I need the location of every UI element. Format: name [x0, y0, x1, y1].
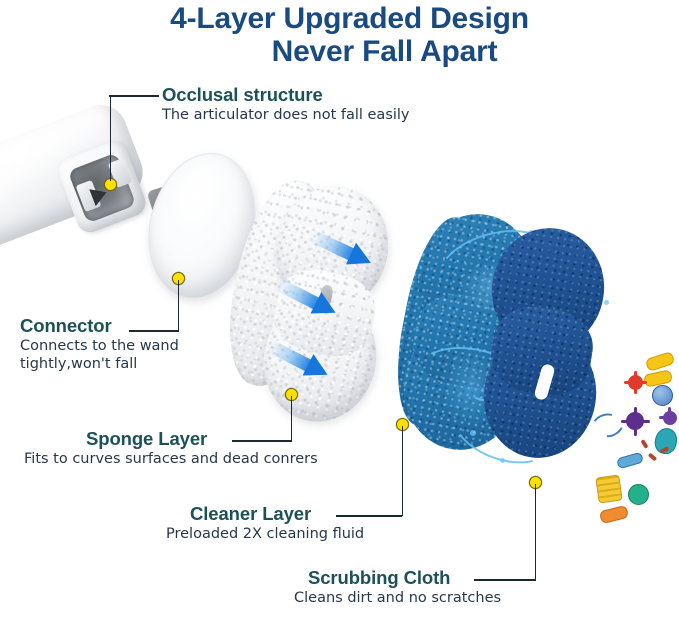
germ-virus-red — [625, 372, 645, 392]
virus-spike — [659, 416, 665, 419]
callout-heading: Occlusal structure — [162, 84, 410, 106]
germ-virus-purple-1 — [660, 408, 679, 427]
virus-body — [626, 412, 644, 430]
leader-line-occlusal-horizontal — [109, 95, 159, 97]
callout-scrubbing-cloth: Scrubbing Cloth Cleans dirt and no scrat… — [294, 567, 501, 607]
callout-cleaner-layer: Cleaner Layer Preloaded 2X cleaning flui… — [166, 503, 364, 543]
virus-spike — [634, 388, 637, 394]
virus-spike — [668, 407, 671, 413]
infographic-canvas: 4-Layer Upgraded Design Never Fall Apart — [0, 0, 679, 626]
virus-spike — [634, 371, 637, 377]
germ-speck-2 — [648, 453, 657, 462]
callout-sponge-layer: Sponge Layer Fits to curves surfaces and… — [24, 428, 318, 468]
germ-virus-purple-2 — [622, 408, 648, 434]
leader-line-cloth-vertical — [535, 484, 537, 580]
callout-subtitle-line-1: Connects to the wand — [20, 337, 179, 355]
callout-subtitle-line-2: tightly,won't fall — [20, 355, 179, 373]
title-line-1: 4-Layer Upgraded Design — [0, 2, 679, 35]
callout-occlusal-structure: Occlusal structure The articulator does … — [162, 84, 410, 124]
water-drop-4 — [500, 458, 505, 463]
page-title: 4-Layer Upgraded Design Never Fall Apart — [0, 2, 679, 68]
callout-heading: Cleaner Layer — [190, 503, 364, 525]
virus-spike — [624, 381, 630, 384]
title-line-2: Never Fall Apart — [0, 35, 679, 68]
water-drop-3 — [470, 430, 476, 436]
germ-bacillus-blue — [616, 452, 644, 470]
virus-body — [663, 411, 677, 425]
leader-line-cleaner-vertical — [402, 426, 404, 516]
germ-circle-green — [628, 484, 649, 505]
callout-heading: Sponge Layer — [86, 428, 318, 450]
virus-spike — [641, 381, 647, 384]
callout-connector: Connector Connects to the wand tightly,w… — [20, 315, 179, 373]
virus-spike — [634, 407, 637, 414]
callout-subtitle: Cleans dirt and no scratches — [294, 589, 501, 607]
germ-sponge-yellow — [595, 474, 622, 503]
virus-spike — [634, 429, 637, 436]
virus-spike — [643, 420, 650, 423]
callout-subtitle: Preloaded 2X cleaning fluid — [166, 525, 364, 543]
leader-line-occlusal-vertical — [110, 95, 112, 181]
germ-speck-1 — [640, 439, 648, 449]
germ-rod-orange — [599, 505, 629, 524]
callout-heading: Connector — [20, 315, 179, 337]
callout-heading: Scrubbing Cloth — [308, 567, 501, 589]
germ-sphere-blue — [652, 385, 673, 406]
germ-rod-yellow-1 — [645, 351, 676, 372]
water-drop-5 — [604, 300, 609, 305]
callout-subtitle: Fits to curves surfaces and dead conrers — [24, 450, 318, 468]
callout-subtitle: The articulator does not fall easily — [162, 106, 410, 124]
